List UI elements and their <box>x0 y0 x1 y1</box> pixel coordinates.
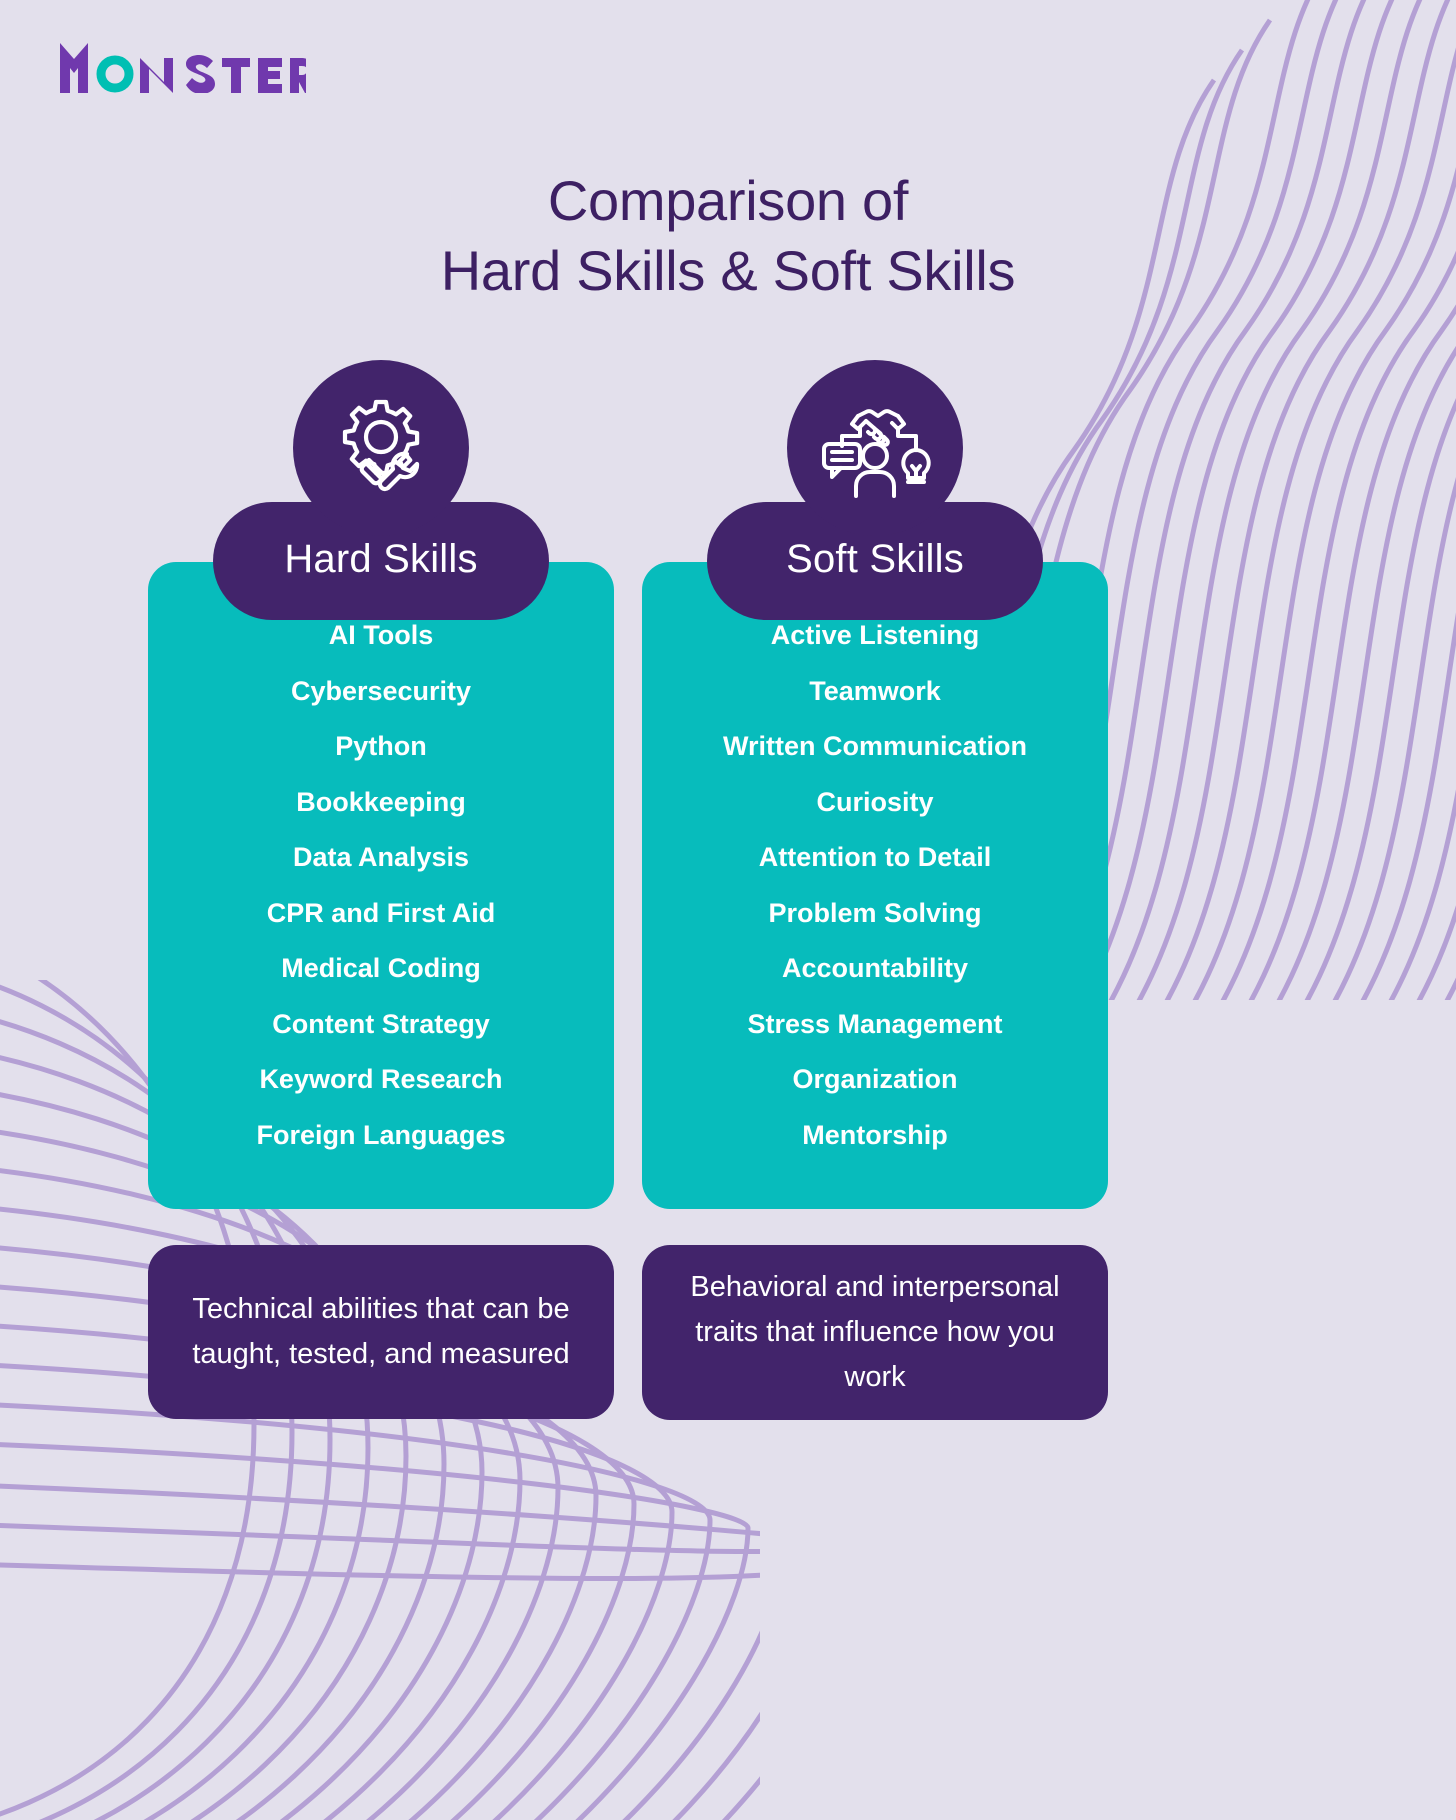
hard-skills-card: AI Tools Cybersecurity Python Bookkeepin… <box>148 562 614 1209</box>
page-title: Comparison of Hard Skills & Soft Skills <box>0 166 1456 306</box>
title-line-1: Comparison of <box>0 166 1456 236</box>
skill-item: Cybersecurity <box>162 664 600 720</box>
soft-skills-icon-badge <box>787 360 963 536</box>
skill-item: Problem Solving <box>656 886 1094 942</box>
skill-item: Keyword Research <box>162 1052 600 1108</box>
soft-skills-column: Soft Skills Active Listening Teamwork Wr… <box>642 360 1108 1420</box>
skill-item: Accountability <box>656 941 1094 997</box>
skill-item: Stress Management <box>656 997 1094 1053</box>
skill-item: Organization <box>656 1052 1094 1108</box>
skill-item: Data Analysis <box>162 830 600 886</box>
hard-skills-label: Hard Skills <box>284 537 477 586</box>
skill-item: Python <box>162 719 600 775</box>
skill-item: Written Communication <box>656 719 1094 775</box>
title-line-2: Hard Skills & Soft Skills <box>0 236 1456 306</box>
infographic-root: Comparison of Hard Skills & Soft Skills … <box>0 0 1456 1820</box>
monster-wordmark-icon <box>58 41 306 93</box>
skill-item: Mentorship <box>656 1108 1094 1164</box>
hard-skills-icon-badge <box>293 360 469 536</box>
skill-item: Curiosity <box>656 775 1094 831</box>
skill-item: Content Strategy <box>162 997 600 1053</box>
soft-skills-label: Soft Skills <box>786 537 964 586</box>
hard-skills-description-card: Technical abilities that can be taught, … <box>148 1245 614 1419</box>
skill-item: CPR and First Aid <box>162 886 600 942</box>
soft-skills-card: Active Listening Teamwork Written Commun… <box>642 562 1108 1209</box>
skill-item: Teamwork <box>656 664 1094 720</box>
skill-item: Attention to Detail <box>656 830 1094 886</box>
hard-skills-description: Technical abilities that can be taught, … <box>172 1287 590 1377</box>
handshake-person-bubble-bulb-icon <box>818 394 932 502</box>
hard-skills-column: Hard Skills AI Tools Cybersecurity Pytho… <box>148 360 614 1419</box>
skill-item: Foreign Languages <box>162 1108 600 1164</box>
soft-skills-description-card: Behavioral and interpersonal traits that… <box>642 1245 1108 1420</box>
skill-item: Medical Coding <box>162 941 600 997</box>
gear-wrench-pencil-icon <box>327 394 435 502</box>
skill-item: Bookkeeping <box>162 775 600 831</box>
soft-skills-description: Behavioral and interpersonal traits that… <box>666 1265 1084 1400</box>
monster-logo <box>58 38 306 96</box>
